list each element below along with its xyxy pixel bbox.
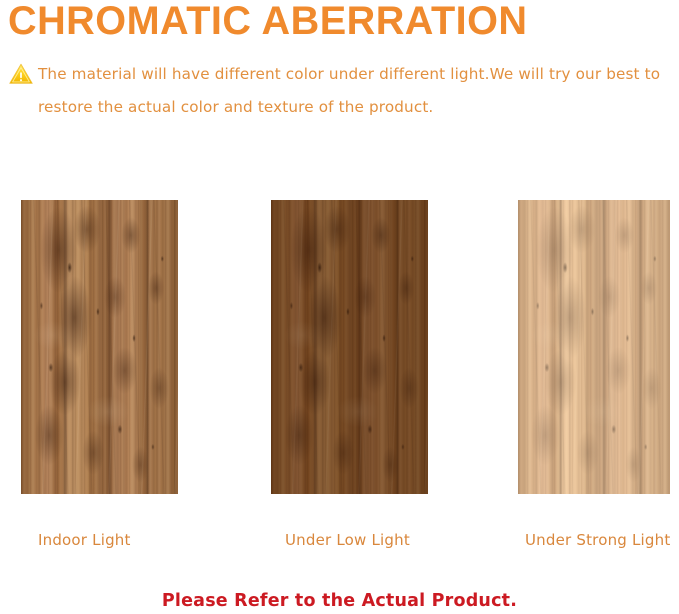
swatch-caption-under-strong-light: Under Strong Light [525, 531, 670, 549]
wood-swatch-indoor-light [21, 200, 178, 494]
warning-triangle-icon [8, 62, 34, 86]
swatch-row [0, 200, 679, 494]
footer-disclaimer: Please Refer to the Actual Product. [0, 591, 679, 611]
wood-swatch-under-strong-light [518, 200, 670, 494]
wood-light-tint [21, 200, 178, 494]
wood-swatch-under-low-light [271, 200, 428, 494]
wood-light-tint [518, 200, 670, 494]
swatch-caption-indoor-light: Indoor Light [38, 531, 131, 549]
page-title: CHROMATIC ABERRATION [8, 0, 664, 44]
wood-light-tint [271, 200, 428, 494]
swatch-caption-under-low-light: Under Low Light [285, 531, 410, 549]
notice-text: The material will have different color u… [38, 58, 679, 124]
